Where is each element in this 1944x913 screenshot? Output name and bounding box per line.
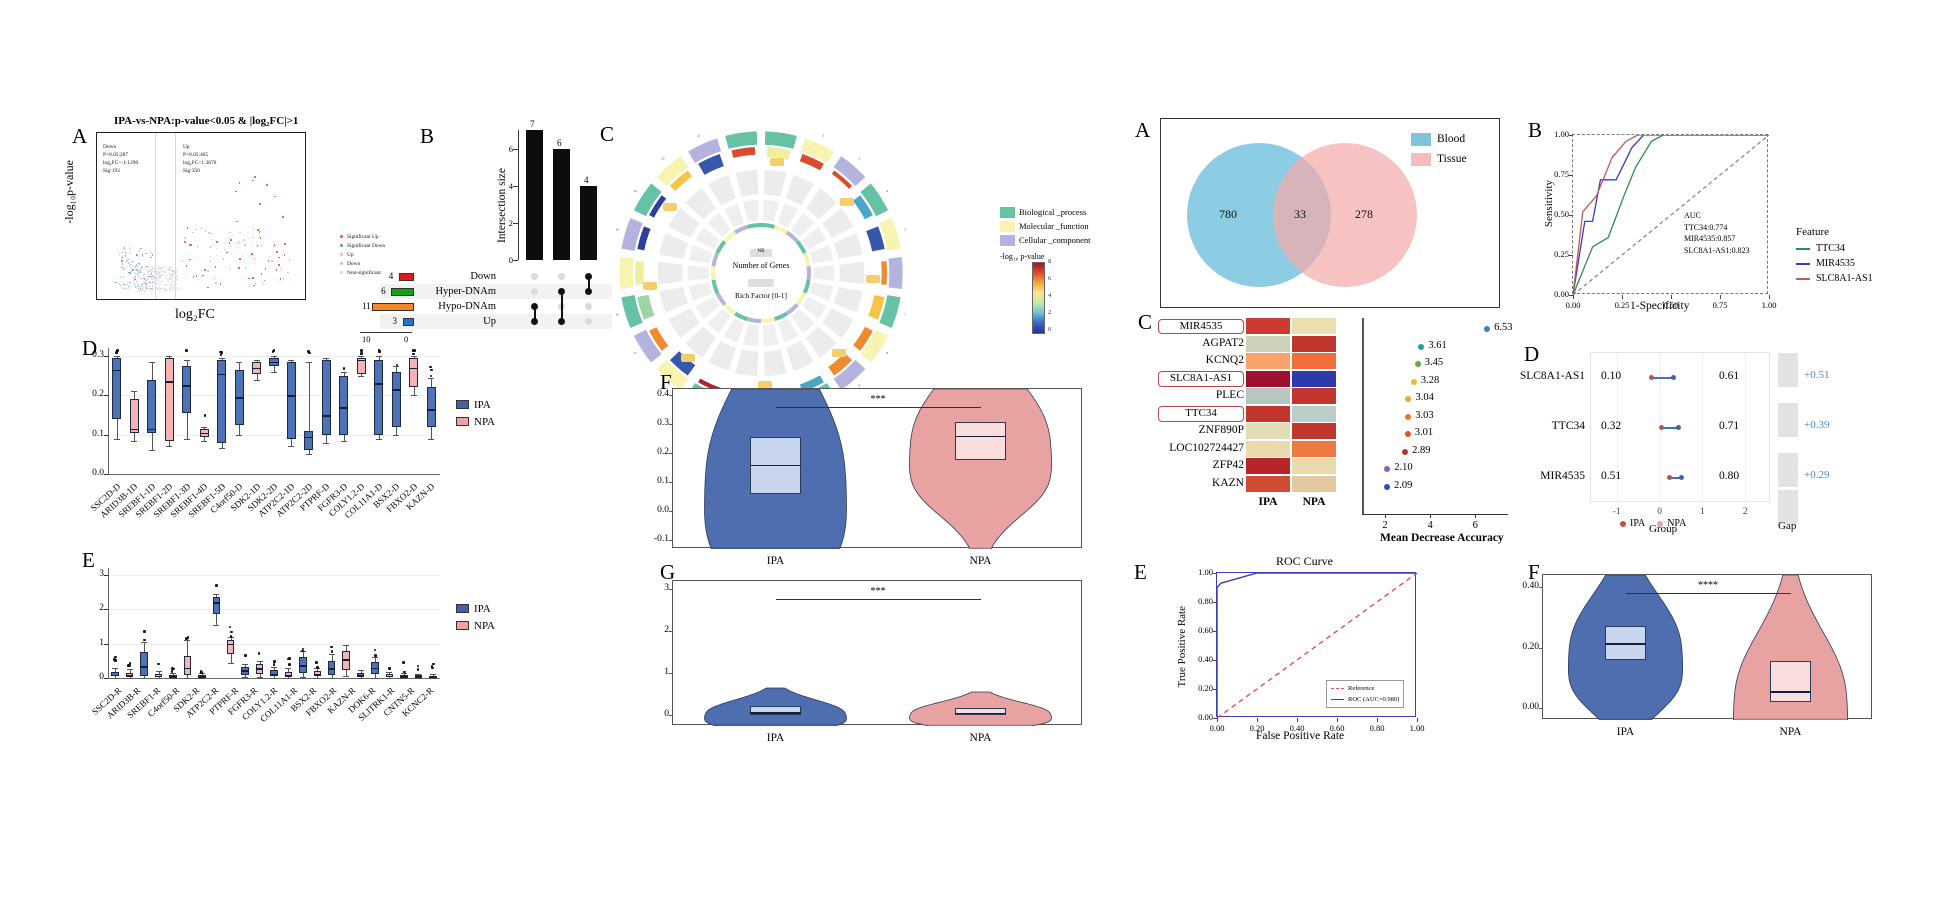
volcano-point (261, 273, 263, 275)
mda-point-value: 3.45 (1425, 357, 1443, 368)
violin-ytick-label: 0.3 (637, 418, 669, 428)
boxplot-whisker-cap (228, 663, 234, 664)
volcano-point (177, 288, 178, 289)
volcano-point (187, 227, 189, 229)
circos-inner-grey-ring (813, 265, 835, 282)
panel-d-boxplot: 0.00.10.20.3SSC2D-DARID3B-1DSREBF1-1DSRE… (108, 348, 440, 474)
volcano-point (143, 283, 144, 284)
upset-ytick-mark (513, 223, 518, 224)
volcano-point (165, 275, 166, 276)
volcano-point (123, 281, 124, 282)
volcano-point (141, 268, 142, 269)
boxplot-outlier (403, 671, 406, 674)
volcano-point (150, 252, 151, 253)
boxplot-gridline (108, 644, 440, 645)
boxplot-whisker-cap (166, 356, 172, 357)
panel-a-letter: A (72, 124, 87, 149)
boxplot-whisker-cap (271, 667, 277, 668)
panel-d2-letter: D (1524, 342, 1539, 367)
boxplot-ytick-label: 0.3 (80, 350, 104, 360)
upset-set-label: Down (418, 271, 496, 282)
volcano-point (229, 268, 231, 270)
roce-legend-swatch (1331, 688, 1344, 689)
heatmap-cell (1246, 318, 1290, 334)
circos-inner-colour-ring (761, 223, 775, 229)
boxplot-median (184, 668, 192, 670)
upset-connector (534, 306, 536, 321)
boxplot-median (415, 677, 423, 679)
circos-tick-label: 18 (616, 228, 619, 232)
circos-count-box (681, 354, 695, 362)
boxplot-whisker-cap (376, 356, 382, 357)
volcano-point (244, 260, 246, 262)
boxplot-legend-swatch (456, 621, 469, 630)
circos-inner-grey-ring (742, 323, 759, 347)
circos-tick-label: 8 (886, 351, 888, 355)
forest-xtick-label: -1 (1607, 507, 1627, 517)
heatmap-row-label: LOC102724427 (1140, 441, 1244, 457)
circos-legend-label: Molecular _function (1019, 221, 1089, 231)
volcano-point (261, 245, 263, 247)
boxplot-median (269, 362, 278, 364)
panel-e-legend: IPANPA (456, 600, 495, 634)
volcano-point (189, 244, 191, 246)
volcano-point (259, 203, 261, 205)
volcano-point (137, 286, 138, 287)
roc-auc-header: AUC (1684, 210, 1750, 222)
volcano-point (163, 291, 164, 292)
boxplot-median (155, 676, 163, 678)
mda-point (1384, 466, 1390, 472)
panel-a-title: IPA-vs-NPA:p-value<0.05 & |log₂FC|>1 (114, 115, 298, 127)
volcano-point (242, 254, 244, 256)
mda-point-value: 2.09 (1394, 480, 1412, 491)
volcano-legend-item: Up (340, 250, 385, 259)
boxplot-outlier (171, 667, 174, 670)
circos-heat-bar (635, 261, 644, 285)
volcano-point (126, 288, 127, 289)
panel-c2-heatmap: MIR4535AGPAT2KCNQ2SLC8A1-AS1PLECTTC34ZNF… (1160, 318, 1360, 508)
boxplot-whisker-cap (114, 439, 120, 440)
volcano-point (158, 283, 159, 284)
volcano-point (268, 260, 270, 262)
volcano-point (260, 237, 262, 239)
boxplot-whisker-cap (401, 678, 407, 679)
volcano-point (202, 275, 204, 277)
panel-f2-violin: 0.000.200.40IPANPA**** (1542, 574, 1872, 719)
volcano-point (130, 267, 131, 268)
boxplot-whisker-cap (114, 356, 120, 357)
volcano-legend-label: Up (347, 252, 354, 258)
volcano-point (225, 243, 227, 245)
boxplot-whisker-cap (428, 378, 434, 379)
boxplot-median (299, 665, 307, 667)
heatmap-row-label: PLEC (1140, 388, 1244, 404)
volcano-point (115, 282, 116, 283)
roc-legend-swatch (1796, 248, 1810, 250)
circos-tick-label: 3 (858, 157, 860, 161)
roce-xtick (1417, 718, 1418, 722)
venn-legend-item: Tissue (1411, 149, 1467, 169)
volcano-point (125, 252, 126, 253)
circos-outer-band (634, 183, 662, 217)
boxplot-box (227, 640, 235, 654)
boxplot-legend-label: NPA (474, 416, 495, 428)
panel-b2-auc-text: AUCTTC34:0.774MIR4535:0.857SLC8A1-AS1:0.… (1684, 210, 1750, 256)
violin-ytick-label: 0.20 (1507, 642, 1539, 652)
forest-gap-bar (1778, 403, 1798, 437)
boxplot-ytick-label: 0.2 (80, 389, 104, 399)
boxplot-median (217, 374, 226, 376)
volcano-point (157, 289, 158, 290)
boxplot-median (112, 370, 121, 372)
volcano-legend-swatch (340, 271, 343, 274)
boxplot-median (371, 668, 379, 670)
volcano-point (253, 228, 255, 230)
upset-ytick-label: 2 (498, 218, 513, 228)
roce-legend-item: ROC (AUC=0.980) (1331, 694, 1399, 705)
panel-a-xlabel: log₂FC (175, 307, 215, 323)
volcano-point (252, 180, 254, 182)
circos-legend-item: Cellular _component (1000, 233, 1091, 247)
roc-auc-line: SLC8A1-AS1:0.823 (1684, 245, 1750, 257)
violin-ytick-label: 0.4 (637, 389, 669, 399)
boxplot-outlier (244, 654, 247, 657)
upset-matrix-dot[interactable] (558, 273, 565, 280)
forest-point-npa (1676, 425, 1681, 430)
upset-matrix-dot[interactable] (585, 303, 592, 310)
boxplot-box (304, 431, 313, 451)
panel-e-boxplot: 0123SSC2D-RARID3B-RSREBF1-RC4orf50-RSDK2… (108, 568, 440, 678)
upset-bar (553, 149, 570, 260)
mda-xtick-label: 6 (1466, 520, 1484, 531)
boxplot-outlier (229, 626, 232, 629)
forest-legend-label: IPA (1630, 518, 1645, 529)
mda-point-value: 3.03 (1415, 410, 1433, 421)
volcano-point (175, 284, 176, 285)
violin-xtick-label: NPA (1769, 726, 1813, 738)
mda-point (1402, 449, 1408, 455)
boxplot-box (112, 358, 121, 419)
boxplot-legend-swatch (456, 400, 469, 409)
volcano-point (150, 274, 151, 275)
roce-ytick-label: 1.00 (1183, 567, 1213, 577)
violin-median (955, 713, 1006, 715)
forest-gridline (1702, 353, 1703, 503)
panel-a2-letter: A (1135, 118, 1150, 143)
boxplot-median (241, 670, 249, 672)
boxplot-ytick-label: 3 (80, 569, 104, 579)
volcano-point (153, 291, 154, 292)
volcano-point (139, 269, 140, 270)
boxplot-outlier (185, 349, 188, 352)
volcano-point (215, 266, 217, 268)
upset-set-count: 3 (393, 316, 398, 326)
volcano-point (184, 237, 186, 239)
circos-outer-band (833, 156, 865, 187)
forest-gap-bar (1778, 453, 1798, 487)
boxplot-median (256, 668, 264, 670)
heatmap-cell (1292, 476, 1336, 492)
volcano-point (160, 283, 161, 284)
violin-sig-label: *** (866, 394, 890, 405)
volcano-point (216, 255, 218, 257)
boxplot-whisker-cap (184, 439, 190, 440)
boxplot-median (386, 676, 394, 678)
boxplot-box (409, 358, 418, 388)
boxplot-gridline (108, 435, 440, 436)
boxplot-whisker-cap (343, 676, 349, 677)
volcano-point (166, 269, 167, 270)
volcano-point (174, 277, 175, 278)
circos-outer-band (765, 131, 798, 149)
upset-matrix-dot[interactable] (531, 273, 538, 280)
circos-legend-label: Biological _process (1019, 207, 1086, 217)
boxplot-whisker-cap (219, 448, 225, 449)
mda-xtick (1475, 514, 1476, 518)
boxplot-outlier (374, 649, 377, 652)
volcano-point (273, 246, 275, 248)
roc-legend-item: TTC34 (1796, 241, 1873, 256)
circos-grey-ring (838, 261, 865, 285)
circos-center-sublabel: Rich Factor [0-1] (719, 291, 803, 300)
volcano-point (144, 273, 145, 274)
heatmap-row-label: KCNQ2 (1140, 353, 1244, 369)
forest-left-value: 0.51 (1601, 470, 1621, 482)
mda-xtick (1430, 514, 1431, 518)
volcano-point (210, 247, 212, 249)
boxplot-median (147, 429, 156, 431)
roc-xtick (1573, 295, 1574, 299)
volcano-point (220, 283, 222, 285)
boxplot-legend-swatch (456, 417, 469, 426)
roce-ytick-label: 0.80 (1183, 596, 1213, 606)
volcano-point (149, 282, 150, 283)
volcano-point (248, 278, 250, 280)
boxplot-outlier (432, 663, 435, 666)
volcano-point (191, 244, 193, 246)
boxplot-yaxis (108, 348, 109, 474)
volcano-legend: Significant UpSignificant DownUpDownNon-… (340, 232, 385, 277)
volcano-points: 864 (97, 133, 305, 299)
roce-legend-item: Reference (1331, 683, 1399, 694)
mda-point (1405, 431, 1411, 437)
boxplot-whisker-cap (141, 642, 147, 643)
circos-grey-ring (734, 169, 758, 198)
volcano-point (155, 265, 156, 266)
volcano-point (138, 256, 139, 257)
volcano-point (161, 288, 162, 289)
forest-xtick-label: 0 (1650, 507, 1670, 517)
heatmap-cell (1246, 388, 1290, 404)
circos-colorbar-tick: 6 (1048, 275, 1051, 282)
boxplot-whisker-cap (184, 640, 190, 641)
volcano-point (171, 285, 172, 286)
boxplot-whisker-cap (112, 678, 118, 679)
circos-tick-label: 5 (904, 228, 906, 232)
volcano-point (238, 267, 240, 269)
volcano-legend-label: Non-significant (347, 270, 381, 276)
volcano-point (167, 278, 168, 279)
boxplot-whisker-cap (343, 645, 349, 646)
forest-left-value: 0.32 (1601, 420, 1621, 432)
roc-xtick-label: 0.00 (1556, 300, 1590, 310)
roce-ytick-label: 0.00 (1183, 712, 1213, 722)
forest-gap-value: +0.29 (1804, 469, 1829, 481)
circos-grey-ring (657, 261, 684, 285)
boxplot-box (182, 366, 191, 413)
panel-c2-mda-plot: 2466.533.613.453.283.043.033.012.892.102… (1370, 318, 1508, 508)
violin-ytick-label: 0.2 (637, 447, 669, 457)
volcano-point (151, 266, 152, 267)
boxplot-box (342, 651, 350, 670)
upset-connector (588, 276, 590, 291)
volcano-point (129, 272, 130, 273)
violin-sig-line (776, 407, 981, 408)
volcano-point (125, 255, 126, 256)
boxplot-legend-item: IPA (456, 396, 495, 413)
boxplot-whisker-cap (184, 360, 190, 361)
volcano-point (146, 285, 147, 286)
boxplot-box (140, 652, 148, 676)
volcano-point (173, 281, 174, 282)
venn-legend-label: Blood (1437, 133, 1465, 145)
circos-legend-item: Molecular _function (1000, 219, 1091, 233)
roc-legend-swatch (1796, 278, 1810, 280)
circos-tick-label: 9 (858, 383, 860, 387)
volcano-point (167, 273, 168, 274)
violin-ytick-label: 0.1 (637, 476, 669, 486)
circos-center-label: Number of Genes (717, 261, 805, 270)
circos-tick-label: 21 (697, 134, 701, 138)
mda-point (1418, 344, 1424, 350)
forest-point-ipa (1659, 425, 1664, 430)
volcano-point (122, 252, 123, 253)
volcano-point (158, 279, 159, 280)
volcano-point (175, 291, 176, 292)
volcano-point (156, 284, 157, 285)
volcano-legend-label: Significant Down (347, 243, 385, 249)
volcano-point (244, 244, 246, 246)
upset-set-bar (403, 318, 414, 326)
boxplot-ytick-label: 0.1 (80, 429, 104, 439)
volcano-point (160, 269, 161, 270)
volcano-point (116, 278, 117, 279)
circos-center-chip-2 (748, 279, 774, 287)
boxplot-whisker-cap (271, 678, 277, 679)
circos-heat-bar (881, 261, 887, 285)
volcano-point (189, 259, 191, 261)
roc-auc-line: MIR4535:0.857 (1684, 233, 1750, 245)
boxplot-whisker-cap (358, 356, 364, 357)
boxplot-median (392, 389, 401, 391)
boxplot-outlier (301, 650, 304, 653)
boxplot-median (285, 675, 293, 677)
upset-setsize-tick: 10 (362, 334, 371, 344)
mda-point-value: 2.89 (1412, 445, 1430, 456)
volcano-point (184, 241, 186, 243)
panel-b2-xlabel: 1-Specificity (1630, 300, 1689, 312)
roc-xtick (1720, 295, 1721, 299)
boxplot-whisker-cap (141, 678, 147, 679)
volcano-point (214, 277, 216, 279)
volcano-point (121, 257, 122, 258)
boxplot-outlier (412, 349, 415, 352)
heatmap-cell (1292, 318, 1336, 334)
boxplot-gridline (108, 609, 440, 610)
upset-set-count: 4 (389, 271, 394, 281)
upset-matrix-dot[interactable] (585, 318, 592, 325)
boxplot-whisker-cap (213, 625, 219, 626)
forest-row-label: SLC8A1-AS1 (1503, 370, 1585, 382)
upset-matrix-dot[interactable] (531, 288, 538, 295)
roc-legend-item: SLC8A1-AS1 (1796, 271, 1873, 286)
roce-xtick (1337, 718, 1338, 722)
boxplot-whisker-cap (201, 441, 207, 442)
circos-count-box (663, 203, 677, 211)
boxplot-legend-item: NPA (456, 413, 495, 430)
volcano-point (249, 286, 251, 288)
volcano-point (144, 276, 145, 277)
boxplot-whisker-cap (386, 672, 392, 673)
circos-inner-colour-ring (761, 317, 775, 323)
circos-count-box (840, 198, 854, 206)
roc-legend-label: TTC34 (1816, 243, 1845, 254)
heatmap-cell (1292, 406, 1336, 422)
boxplot-box (130, 399, 139, 432)
volcano-point (155, 274, 156, 275)
roce-xtick (1377, 718, 1378, 722)
circos-heat-bar (731, 147, 755, 158)
volcano-point (138, 290, 139, 291)
volcano-point (137, 285, 138, 286)
volcano-point (252, 237, 254, 239)
violin-sig-label: *** (866, 586, 890, 597)
violin-median (1770, 691, 1811, 693)
roce-xtick-label: 0.80 (1361, 723, 1393, 733)
volcano-point (151, 271, 152, 272)
upset-ytick-mark (513, 260, 518, 261)
roce-xtick (1217, 718, 1218, 722)
volcano-point (171, 274, 172, 275)
boxplot-whisker-cap (166, 446, 172, 447)
boxplot-whisker-cap (219, 358, 225, 359)
panel-c2-letter: C (1138, 310, 1152, 335)
heatmap-cell (1246, 476, 1290, 492)
heatmap-cell (1246, 441, 1290, 457)
volcano-point (135, 267, 136, 268)
volcano-point (236, 221, 238, 223)
violin-ytick-label: -0.1 (637, 534, 669, 544)
volcano-point (280, 268, 282, 270)
heatmap-col-header: NPA (1292, 496, 1336, 508)
volcano-point (283, 251, 285, 253)
circos-legend-swatch (1000, 221, 1015, 232)
upset-bar-value: 6 (557, 138, 562, 148)
volcano-legend-item: Non-significant (340, 268, 385, 277)
heatmap-row-label: ZNF890P (1140, 423, 1244, 439)
volcano-point (138, 274, 139, 275)
panel-e2-title: ROC Curve (1276, 554, 1333, 569)
panel-e2-xlabel: False Positive Rate (1256, 730, 1344, 742)
heatmap-cell (1292, 371, 1336, 387)
boxplot-outlier (113, 658, 116, 661)
boxplot-outlier (431, 667, 434, 670)
volcano-point (123, 288, 124, 289)
mda-yaxis (1362, 318, 1364, 514)
upset-set-count: 11 (362, 301, 371, 311)
violin-ytick-label: 0.00 (1507, 702, 1539, 712)
